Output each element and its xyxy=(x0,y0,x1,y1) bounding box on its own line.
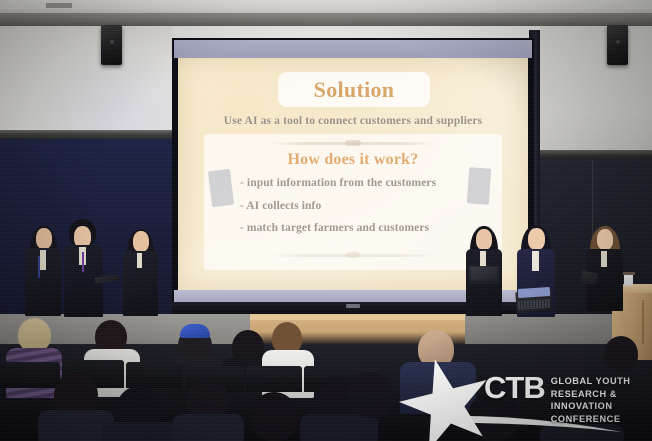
coffee-cup xyxy=(624,274,633,286)
slide-subtitle: Use AI as a tool to connect customers an… xyxy=(178,115,528,127)
ceiling-speaker-left xyxy=(101,25,122,65)
slide-title: Solution xyxy=(278,74,430,106)
chalk-rail-right xyxy=(540,150,652,158)
ceiling-speaker-right xyxy=(607,25,628,65)
stage-ledge-wood-top xyxy=(250,314,465,320)
ceiling-beam xyxy=(0,13,652,26)
slide-divider-bottom xyxy=(271,254,435,257)
wall-left xyxy=(0,26,172,132)
speaker-cone-icon xyxy=(615,39,620,44)
coffee-cup-lid xyxy=(622,272,635,275)
presentation-photo-scene: Solution Use AI as a tool to connect cus… xyxy=(0,0,652,441)
slide-bullet: - match target farmers and customers xyxy=(240,220,490,237)
blue-cap xyxy=(180,324,210,338)
slide-bullet: - input information from the customers xyxy=(240,175,490,192)
divider-knot xyxy=(345,140,361,146)
divider-knot xyxy=(346,252,360,258)
tape-decoration-left xyxy=(208,169,234,207)
speaker-cone-icon xyxy=(109,39,114,44)
screen-housing-nub xyxy=(346,304,360,308)
screen-top-bar xyxy=(174,40,532,58)
chalk-rail-left xyxy=(0,130,172,139)
slide-heading: How does it work? xyxy=(178,151,528,169)
ceiling-vent xyxy=(46,3,72,8)
slide-divider-top xyxy=(271,142,435,145)
wall-right xyxy=(540,26,652,150)
ceiling xyxy=(0,0,652,13)
slide-bullet-list: - input information from the customers -… xyxy=(240,175,490,243)
podium-edge xyxy=(642,300,644,344)
slide-bullet: - AI collects info xyxy=(240,198,490,215)
